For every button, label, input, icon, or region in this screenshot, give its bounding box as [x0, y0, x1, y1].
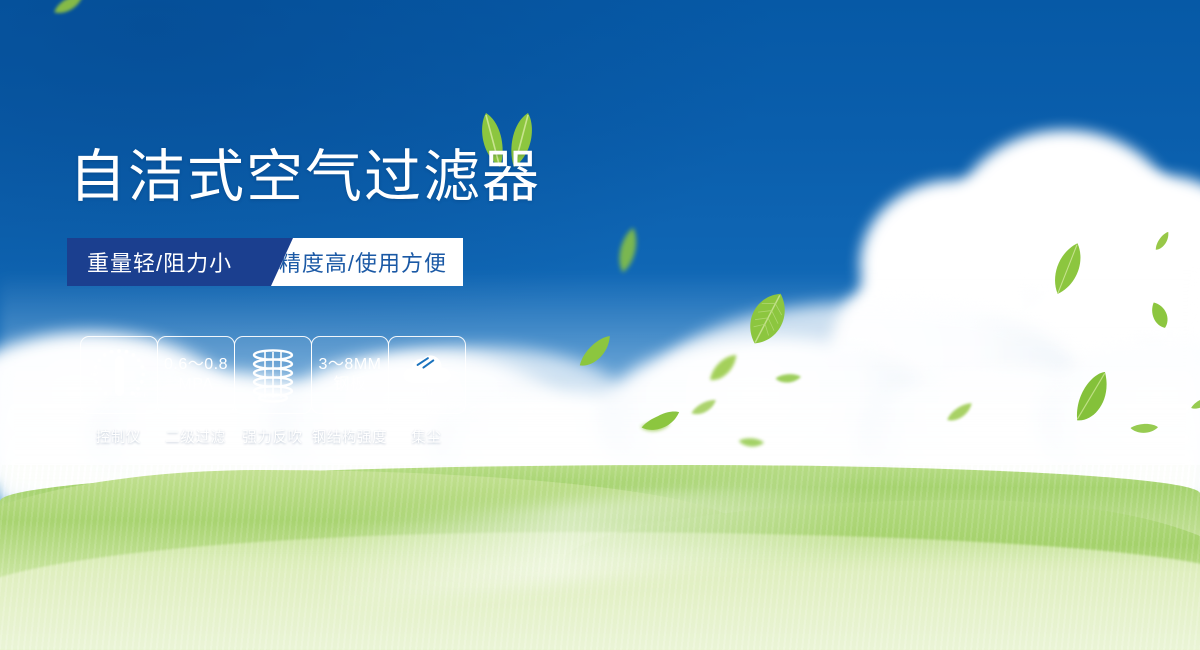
gauge-label-no: NO — [88, 370, 99, 377]
feature-list: NO OFF 控制仪 0.6～0.8 MPA 二级过滤 — [80, 336, 465, 447]
feature-label: 强力反吹 — [234, 426, 311, 447]
feature-label: 钢结构强度 — [311, 426, 388, 447]
air-cloud-icon: Air — [401, 353, 453, 398]
gauge-icon: NO OFF — [88, 344, 150, 406]
gauge-label-off: OFF — [134, 392, 148, 399]
grass-texture — [0, 465, 1200, 650]
pressure-value: 0.6～0.8 — [164, 355, 228, 375]
feature-item-steel-structure[interactable]: 3～8MM 钢板 钢结构强度 — [311, 336, 388, 447]
filter-cartridge-icon — [245, 346, 301, 404]
grass-field — [0, 465, 1200, 650]
product-banner: 自洁式空气过滤器 重量轻/阻力小 精度高/使用方便 — [0, 0, 1200, 650]
steel-material: 钢板 — [333, 375, 366, 395]
feature-label: 控制仪 — [80, 426, 157, 447]
feature-item-dust-collection[interactable]: Air 集尘 — [388, 336, 465, 447]
pressure-unit: MPA — [179, 375, 214, 395]
steel-thickness: 3～8MM — [319, 355, 382, 375]
air-label: Air — [419, 386, 434, 398]
feature-icon-box: NO OFF — [80, 336, 158, 414]
feature-item-blowback[interactable]: 强力反吹 — [234, 336, 311, 447]
subtitle-bar: 重量轻/阻力小 精度高/使用方便 — [67, 238, 463, 286]
feature-icon-box — [234, 336, 312, 414]
feature-icon-box: Air — [388, 336, 466, 414]
feature-icon-box: 0.6～0.8 MPA — [157, 336, 235, 414]
feature-item-controller[interactable]: NO OFF 控制仪 — [80, 336, 157, 447]
page-title: 自洁式空气过滤器 — [69, 146, 541, 208]
feature-icon-box: 3～8MM 钢板 — [311, 336, 389, 414]
feature-label: 集尘 — [388, 426, 465, 447]
gauge-needle — [115, 356, 124, 396]
feature-label: 二级过滤 — [157, 426, 234, 447]
feature-item-secondary-filter[interactable]: 0.6～0.8 MPA 二级过滤 — [157, 336, 234, 447]
